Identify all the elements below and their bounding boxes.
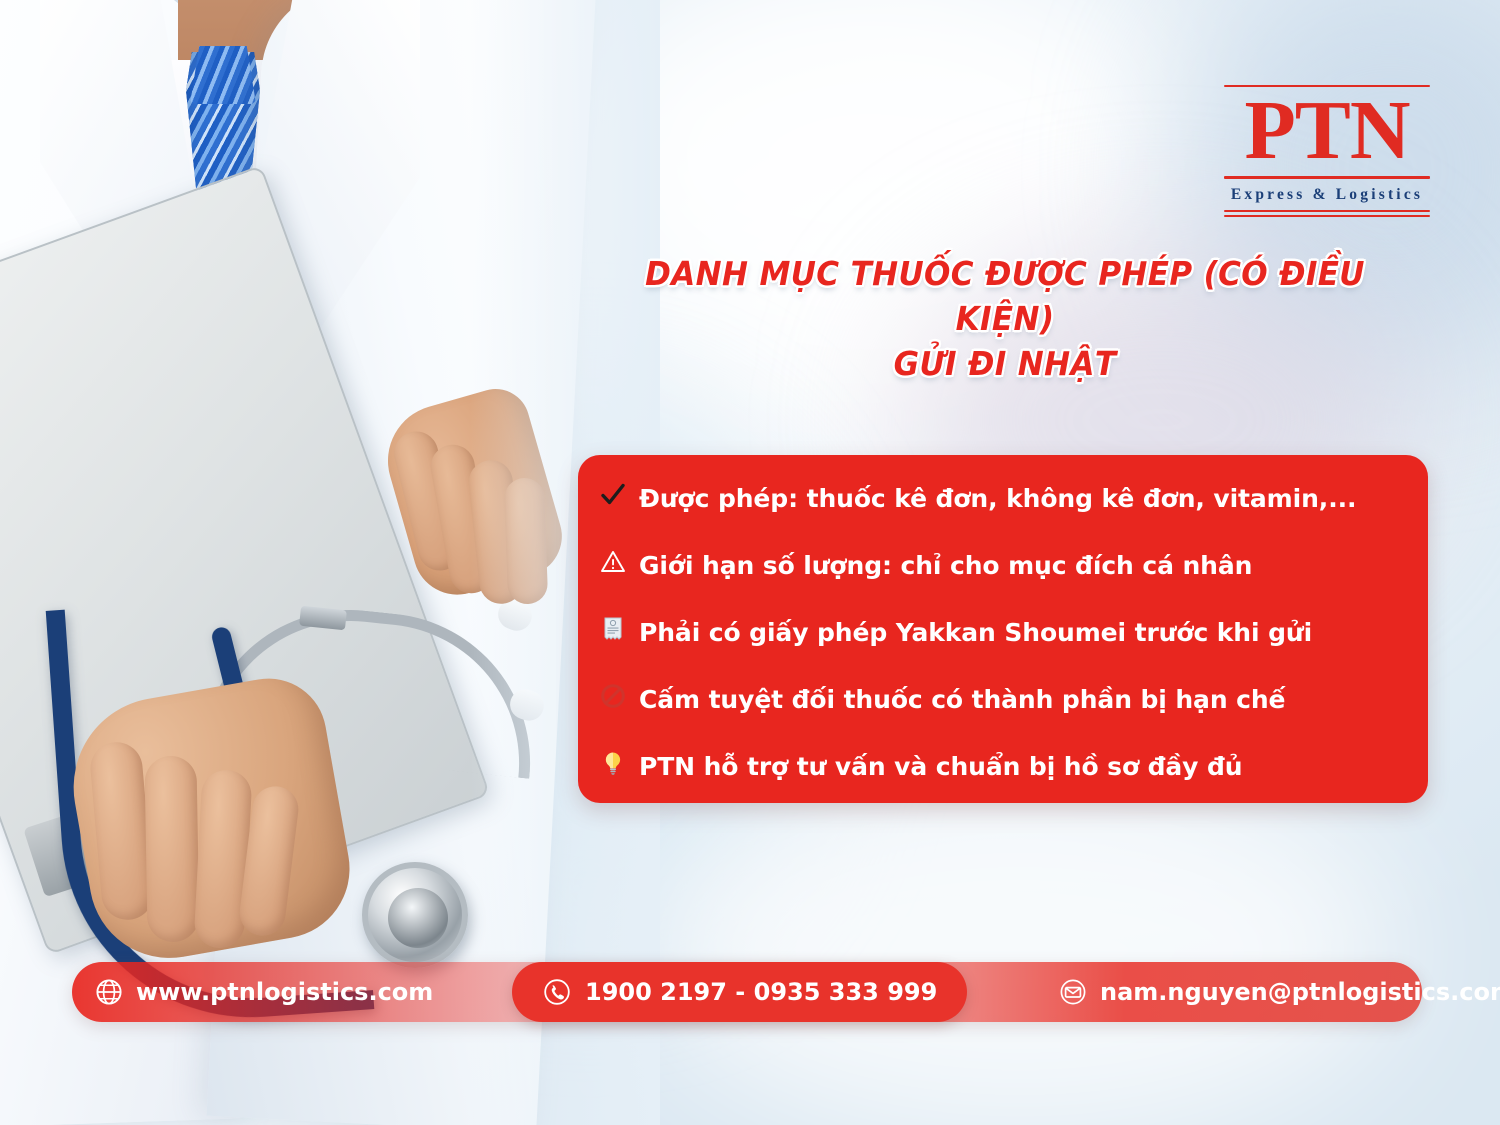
phone-contact[interactable]: 1900 2197 - 0935 333 999 <box>512 962 967 1022</box>
phone-icon <box>542 977 572 1007</box>
globe-icon <box>94 977 124 1007</box>
logo-tagline: Express & Logistics <box>1224 182 1430 207</box>
prohibition-icon <box>600 683 626 709</box>
phone-label: 1900 2197 - 0935 333 999 <box>585 978 937 1006</box>
envelope-icon <box>1058 977 1088 1007</box>
check-icon <box>600 482 626 508</box>
list-item-label: Được phép: thuốc kê đơn, không kê đơn, v… <box>639 485 1356 513</box>
logo-rule <box>1224 210 1430 212</box>
poster-canvas: PTN Express & Logistics DANH MỤC THUỐC Đ… <box>0 0 1500 1125</box>
list-item-label: Phải có giấy phép Yakkan Shoumei trước k… <box>639 619 1312 647</box>
finger <box>144 756 199 943</box>
necktie-knot <box>190 46 256 104</box>
website-label: www.ptnlogistics.com <box>136 978 433 1006</box>
list-item: Phải có giấy phép Yakkan Shoumei trước k… <box>600 615 1398 647</box>
list-item: PTN hỗ trợ tư vấn và chuẩn bị hồ sơ đầy … <box>600 749 1398 781</box>
list-item-label: Cấm tuyệt đối thuốc có thành phần bị hạn… <box>639 686 1285 714</box>
list-item: Được phép: thuốc kê đơn, không kê đơn, v… <box>600 481 1398 513</box>
list-item: Cấm tuyệt đối thuốc có thành phần bị hạn… <box>600 682 1398 714</box>
page-title-line-2: GỬI ĐI NHẬT <box>606 342 1405 387</box>
email-contact[interactable]: nam.nguyen@ptnlogistics.com <box>1058 977 1500 1007</box>
background-blob <box>640 760 1400 1125</box>
highlights-card: Được phép: thuốc kê đơn, không kê đơn, v… <box>578 455 1428 803</box>
stethoscope-diaphragm <box>388 888 448 948</box>
website-contact[interactable]: www.ptnlogistics.com <box>94 977 433 1007</box>
email-label: nam.nguyen@ptnlogistics.com <box>1100 978 1500 1006</box>
logo-wordmark: PTN <box>1224 90 1430 173</box>
logo-rule <box>1224 215 1430 217</box>
list-item: Giới hạn số lượng: chỉ cho mục đích cá n… <box>600 548 1398 580</box>
ptn-logo: PTN Express & Logistics <box>1224 82 1430 220</box>
page-title: DANH MỤC THUỐC ĐƯỢC PHÉP (CÓ ĐIỀU KIỆN) … <box>606 252 1405 387</box>
list-item-label: Giới hạn số lượng: chỉ cho mục đích cá n… <box>639 552 1252 580</box>
doctor-photo <box>0 0 620 1125</box>
lightbulb-icon <box>600 750 626 776</box>
contact-footer-bar: www.ptnlogistics.com 1900 2197 - 0935 33… <box>72 962 1422 1022</box>
stethoscope-chestpiece <box>362 862 468 968</box>
list-item-label: PTN hỗ trợ tư vấn và chuẩn bị hồ sơ đầy … <box>639 753 1242 781</box>
page-title-line-1: DANH MỤC THUỐC ĐƯỢC PHÉP (CÓ ĐIỀU KIỆN) <box>606 252 1405 342</box>
warning-icon <box>600 549 626 575</box>
document-icon <box>600 616 626 642</box>
